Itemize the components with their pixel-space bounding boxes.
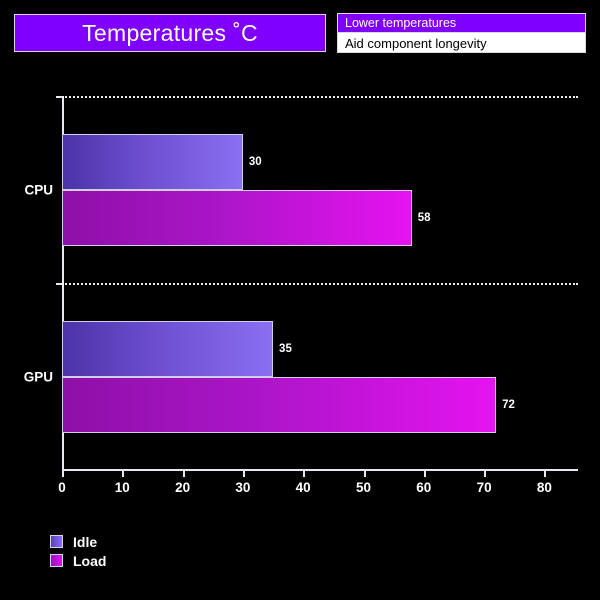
legend-swatch-load xyxy=(50,554,63,567)
x-axis-tick-label: 50 xyxy=(356,480,371,495)
bar-value-label: 35 xyxy=(279,343,292,355)
x-axis-tick-label: 0 xyxy=(58,480,66,495)
x-axis-tick xyxy=(424,470,426,477)
bar-value-label: 72 xyxy=(502,399,515,411)
x-axis-tick-label: 10 xyxy=(115,480,130,495)
x-axis-tick xyxy=(303,470,305,477)
bar-gpu-idle xyxy=(62,321,273,377)
bar-cpu-idle xyxy=(62,134,243,190)
y-axis-tick xyxy=(56,96,63,98)
legend-label-idle: Idle xyxy=(73,535,97,549)
x-axis-tick-label: 20 xyxy=(175,480,190,495)
callout-text: Aid component longevity xyxy=(337,32,586,53)
x-axis-tick xyxy=(122,470,124,477)
legend-item-idle: Idle xyxy=(50,532,106,551)
gridline xyxy=(62,283,578,285)
legend-swatch-idle xyxy=(50,535,63,548)
x-axis-tick-label: 40 xyxy=(296,480,311,495)
legend-item-load: Load xyxy=(50,551,106,570)
gridline xyxy=(62,96,578,98)
x-axis-tick xyxy=(62,470,64,477)
x-axis-tick xyxy=(364,470,366,477)
page-title: Temperatures ˚C xyxy=(82,22,258,45)
x-axis-tick-label: 70 xyxy=(477,480,492,495)
chart-legend: Idle Load xyxy=(50,532,106,570)
callout-heading: Lower temperatures xyxy=(337,13,586,32)
bar-value-label: 30 xyxy=(249,156,262,168)
x-axis-tick-label: 80 xyxy=(537,480,552,495)
bar-value-label: 58 xyxy=(418,212,431,224)
bar-cpu-load xyxy=(62,190,412,246)
x-axis-tick xyxy=(544,470,546,477)
legend-label-load: Load xyxy=(73,554,106,568)
bar-gpu-load xyxy=(62,377,496,433)
x-axis-tick xyxy=(243,470,245,477)
chart-title-box: Temperatures ˚C xyxy=(14,14,326,52)
category-label-cpu: CPU xyxy=(24,183,53,198)
category-label-gpu: GPU xyxy=(24,370,53,385)
x-axis-tick-label: 30 xyxy=(235,480,250,495)
x-axis xyxy=(62,469,578,471)
callout-box: Lower temperatures Aid component longevi… xyxy=(337,13,586,53)
x-axis-tick xyxy=(183,470,185,477)
x-axis-tick xyxy=(484,470,486,477)
y-axis-tick xyxy=(56,283,63,285)
y-axis xyxy=(62,96,64,470)
x-axis-tick-label: 60 xyxy=(416,480,431,495)
chart-plot-area: 010203040506070803058CPU3572GPU xyxy=(0,0,600,600)
